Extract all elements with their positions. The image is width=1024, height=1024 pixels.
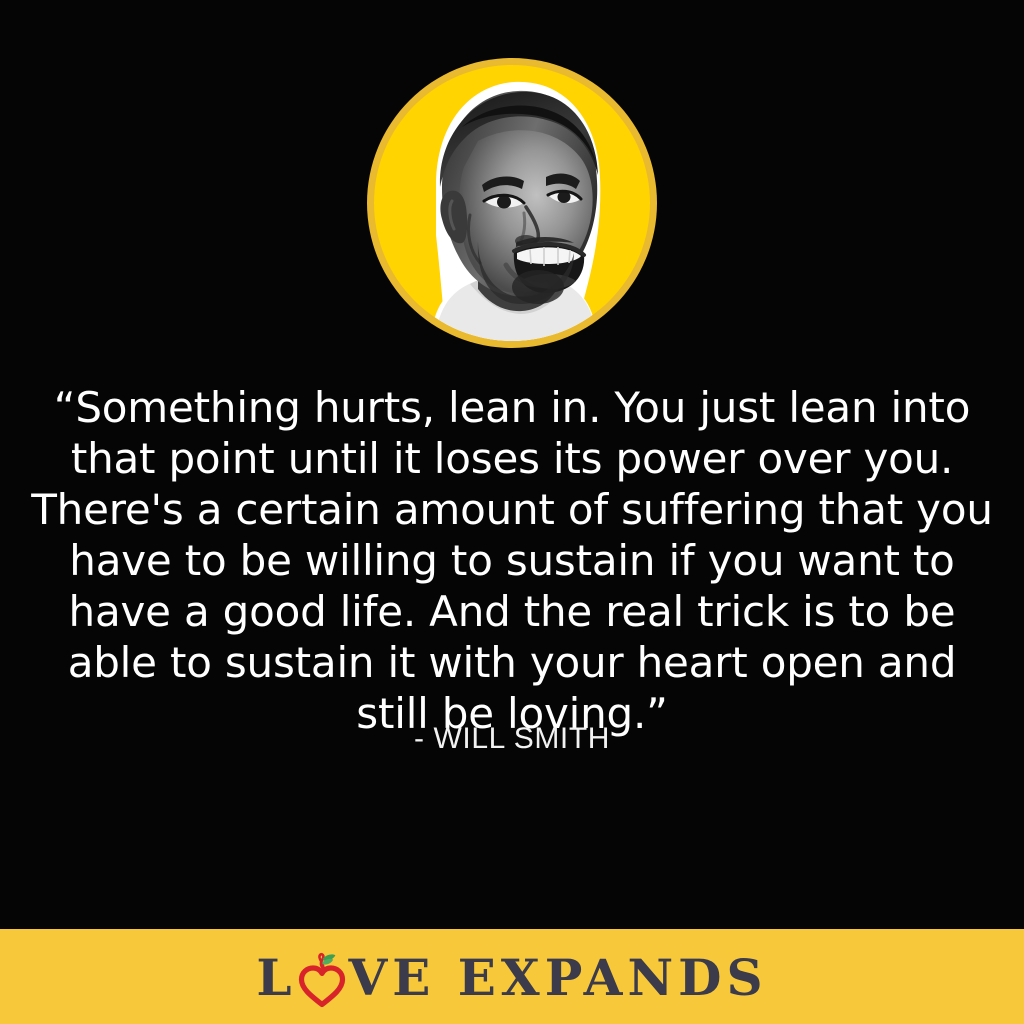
- heart-apple-icon: [298, 950, 346, 1008]
- brand-logo-text-before: L: [256, 953, 296, 1003]
- brand-logo-text-after: VE EXPANDS: [349, 953, 768, 1003]
- portrait-disc: [374, 65, 650, 341]
- quote-text: “Something hurts, lean in. You just lean…: [30, 382, 994, 739]
- brand-logo[interactable]: L VE EXPANDS: [256, 947, 767, 1007]
- portrait-photo: [374, 65, 650, 341]
- quote-card: “Something hurts, lean in. You just lean…: [0, 0, 1024, 1024]
- footer-bar: L VE EXPANDS: [0, 929, 1024, 1024]
- author-portrait: [367, 58, 657, 348]
- quote-attribution: - WILL SMITH: [0, 722, 1024, 756]
